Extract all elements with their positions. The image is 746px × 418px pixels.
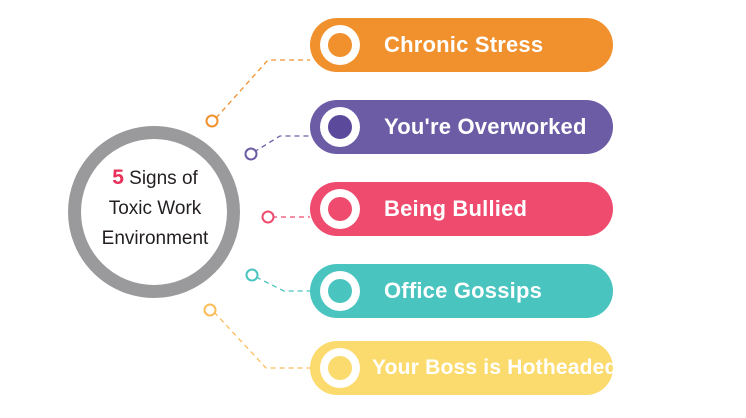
item-label: Your Boss is Hotheaded xyxy=(372,341,618,395)
title-line-2: Toxic Work xyxy=(75,194,235,224)
item-label: Chronic Stress xyxy=(384,18,543,72)
item-node-inner xyxy=(328,279,352,303)
title-line-1-rest: Signs of xyxy=(124,168,198,189)
item-node-inner xyxy=(328,197,352,221)
title-line-3: Environment xyxy=(75,224,235,254)
infographic-canvas: 5 Signs of Toxic Work Environment Chroni… xyxy=(0,0,746,418)
item-label: Office Gossips xyxy=(384,264,542,318)
item-node-inner xyxy=(328,33,352,57)
item-label: You're Overworked xyxy=(384,100,587,154)
title-line-1: 5 Signs of xyxy=(75,163,235,194)
item-label: Being Bullied xyxy=(384,182,527,236)
page-title: 5 Signs of Toxic Work Environment xyxy=(75,163,235,254)
item-node-inner xyxy=(328,356,352,380)
item-node-inner xyxy=(328,115,352,139)
title-number: 5 xyxy=(112,166,124,189)
